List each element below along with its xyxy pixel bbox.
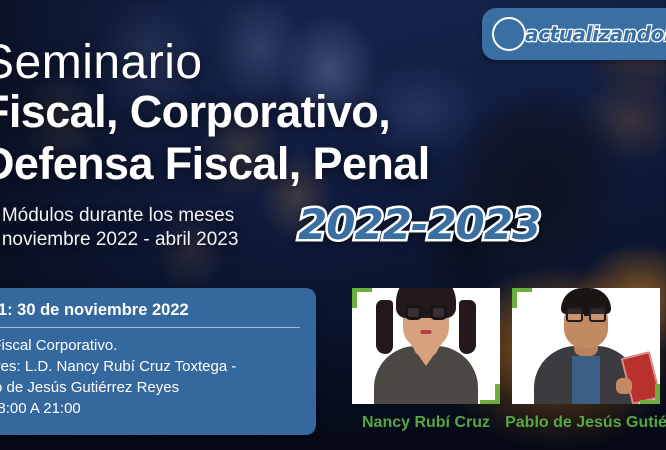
portrait-illustration xyxy=(512,288,660,404)
speakers-row: Nancy Rubí Cruz Pablo xyxy=(352,288,666,448)
glasses-icon xyxy=(566,307,606,322)
headline-eyebrow: Seminario xyxy=(0,38,542,88)
headline-block: Seminario Fiscal, Corporativo, Defensa F… xyxy=(0,38,542,188)
module-line-schedule: rio: 18:00 A 21:00 xyxy=(0,398,300,419)
photo-corner-bottom-right xyxy=(640,384,660,404)
module-divider xyxy=(0,327,300,328)
speaker-name-pablo: Pablo de Jesús Gutié xyxy=(505,413,666,432)
years-badge: 2022-2023 xyxy=(298,203,540,247)
module-title: lulo 1: 30 de noviembre 2022 xyxy=(0,300,300,320)
glasses-icon xyxy=(405,305,447,320)
photo-corner-top-left xyxy=(352,288,372,308)
module-line-topic: cho Fiscal Corporativo. xyxy=(0,335,300,356)
speaker-photo-nancy xyxy=(352,288,500,404)
subtitle-line-2: e noviembre 2022 - abril 2023 xyxy=(0,228,238,252)
photo-corner-bottom-right xyxy=(480,384,500,404)
speaker-photo-pablo xyxy=(512,288,660,404)
module-line-speakers-2: Pablo de Jesús Gutiérrez Reyes xyxy=(0,377,300,398)
portrait-illustration xyxy=(352,288,500,404)
seminar-banner: actualizandon Seminario Fiscal, Corporat… xyxy=(0,0,666,450)
headline-subtitle: 0 Módulos durante los meses e noviembre … xyxy=(0,204,238,252)
speaker-card-pablo: Pablo de Jesús Gutié xyxy=(512,288,660,448)
headline-line-1: Fiscal, Corporativo, xyxy=(0,88,542,136)
module-line-speakers-1: ositores: L.D. Nancy Rubí Cruz Toxtega - xyxy=(0,356,300,377)
speaker-name-nancy: Nancy Rubí Cruz xyxy=(362,413,490,432)
headline-line-2: Defensa Fiscal, Penal xyxy=(0,140,542,188)
brand-wordmark: actualizandon xyxy=(525,22,666,46)
photo-corner-top-left xyxy=(512,288,532,308)
subtitle-line-1: 0 Módulos durante los meses xyxy=(0,204,238,228)
module-info-panel: lulo 1: 30 de noviembre 2022 cho Fiscal … xyxy=(0,288,316,435)
speaker-card-nancy: Nancy Rubí Cruz xyxy=(352,288,500,448)
